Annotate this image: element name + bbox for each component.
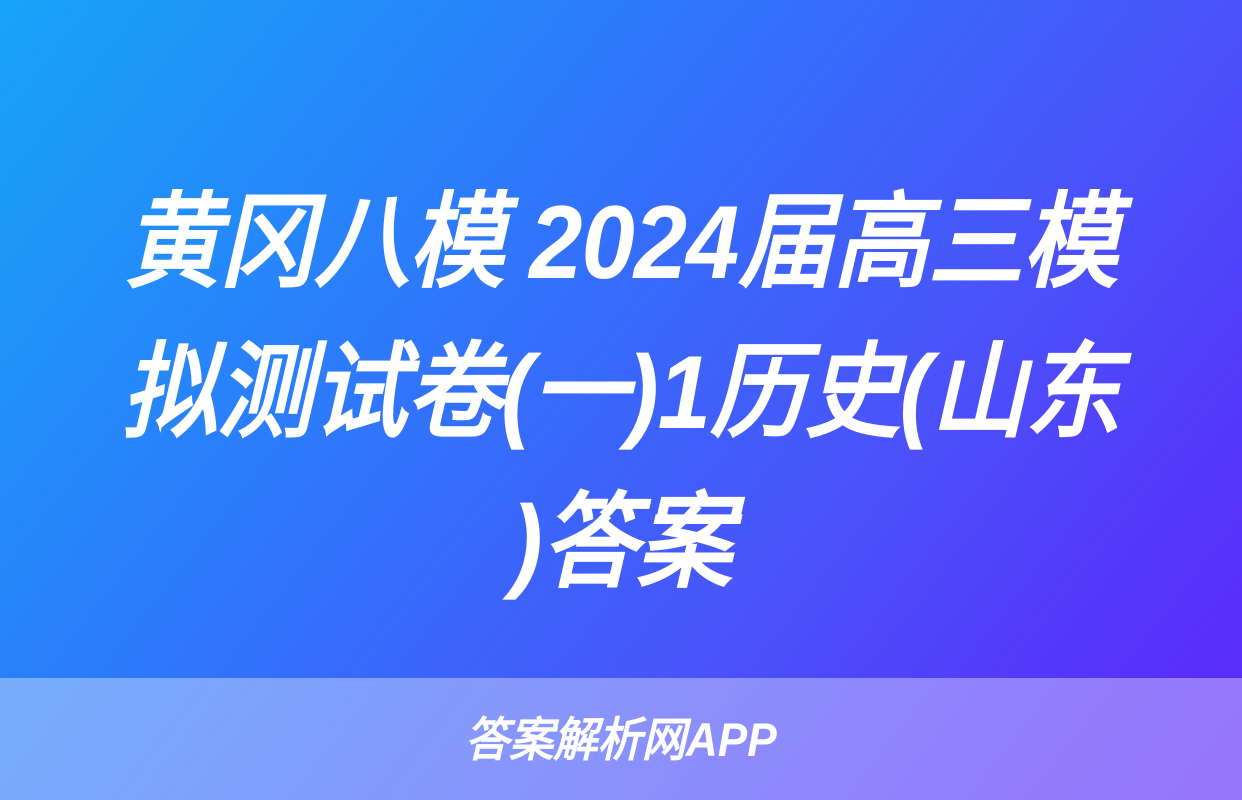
poster-title: 黄冈八模 2024届高三模 拟测试卷(一)1历史(山东 )答案: [0, 168, 1242, 618]
title-line-3: )答案: [103, 468, 1139, 618]
title-line-1: 黄冈八模 2024届高三模: [103, 168, 1139, 318]
footer-watermark-label: 答案解析网APP: [465, 716, 777, 763]
title-line-2: 拟测试卷(一)1历史(山东: [103, 318, 1139, 468]
footer-watermark-band: 答案解析网APP: [0, 678, 1242, 800]
poster-canvas: 黄冈八模 2024届高三模 拟测试卷(一)1历史(山东 )答案 答案解析网APP: [0, 0, 1242, 800]
